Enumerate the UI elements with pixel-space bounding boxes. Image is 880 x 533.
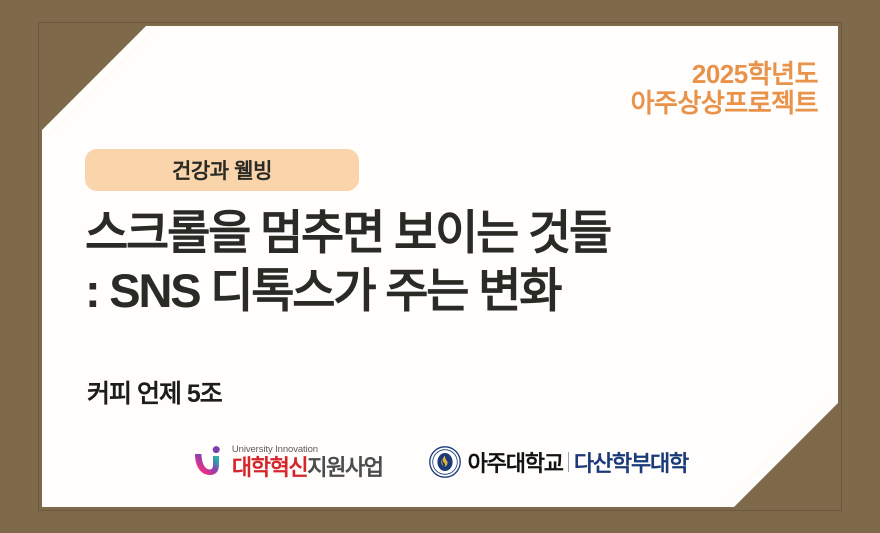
- page-title: 스크롤을 멈추면 보이는 것들 : SNS 디톡스가 주는 변화: [85, 204, 804, 321]
- ajou-university-name: 아주대학교: [468, 446, 563, 478]
- cut-corner-top-left: [42, 26, 146, 130]
- program-tag: 2025학년도 아주상상프로젝트: [631, 60, 818, 118]
- logo-university-innovation: University Innovation 대학혁신지원사업: [192, 445, 383, 479]
- university-innovation-eng-label: University Innovation: [232, 445, 383, 455]
- team-name: 커피 언제 5조: [87, 374, 222, 410]
- logo-ajou-university: 아주대학교 다산학부대학: [429, 446, 688, 478]
- title-slide: 2025학년도 아주상상프로젝트 건강과 웰빙 스크롤을 멈추면 보이는 것들 …: [0, 0, 880, 533]
- university-innovation-kor-rest: 지원사업: [307, 455, 382, 480]
- footer-logos: University Innovation 대학혁신지원사업: [42, 445, 838, 479]
- ajou-college-name: 다산학부대학: [574, 446, 688, 478]
- slide-content: 2025학년도 아주상상프로젝트 건강과 웰빙 스크롤을 멈추면 보이는 것들 …: [42, 26, 838, 507]
- university-innovation-u-mark-icon: [192, 445, 225, 479]
- ajou-university-emblem-icon: [429, 446, 461, 478]
- ajou-university-wordmark: 아주대학교 다산학부대학: [468, 446, 688, 478]
- university-innovation-wordmark: University Innovation 대학혁신지원사업: [232, 445, 383, 479]
- program-tag-name: 아주상상프로젝트: [631, 89, 818, 118]
- program-tag-year: 2025학년도: [631, 60, 818, 89]
- ajou-wordmark-divider: [568, 452, 569, 472]
- page-title-line-2: : SNS 디톡스가 주는 변화: [85, 262, 804, 320]
- page-title-line-1: 스크롤을 멈추면 보이는 것들: [85, 204, 804, 262]
- slide-card: 2025학년도 아주상상프로젝트 건강과 웰빙 스크롤을 멈추면 보이는 것들 …: [42, 26, 838, 507]
- category-badge-label: 건강과 웰빙: [172, 155, 272, 185]
- cut-corner-bottom-right: [734, 403, 838, 507]
- university-innovation-kor-label: 대학혁신지원사업: [232, 457, 383, 479]
- university-innovation-kor-accent: 대학혁신: [232, 455, 307, 480]
- category-badge: 건강과 웰빙: [85, 149, 359, 191]
